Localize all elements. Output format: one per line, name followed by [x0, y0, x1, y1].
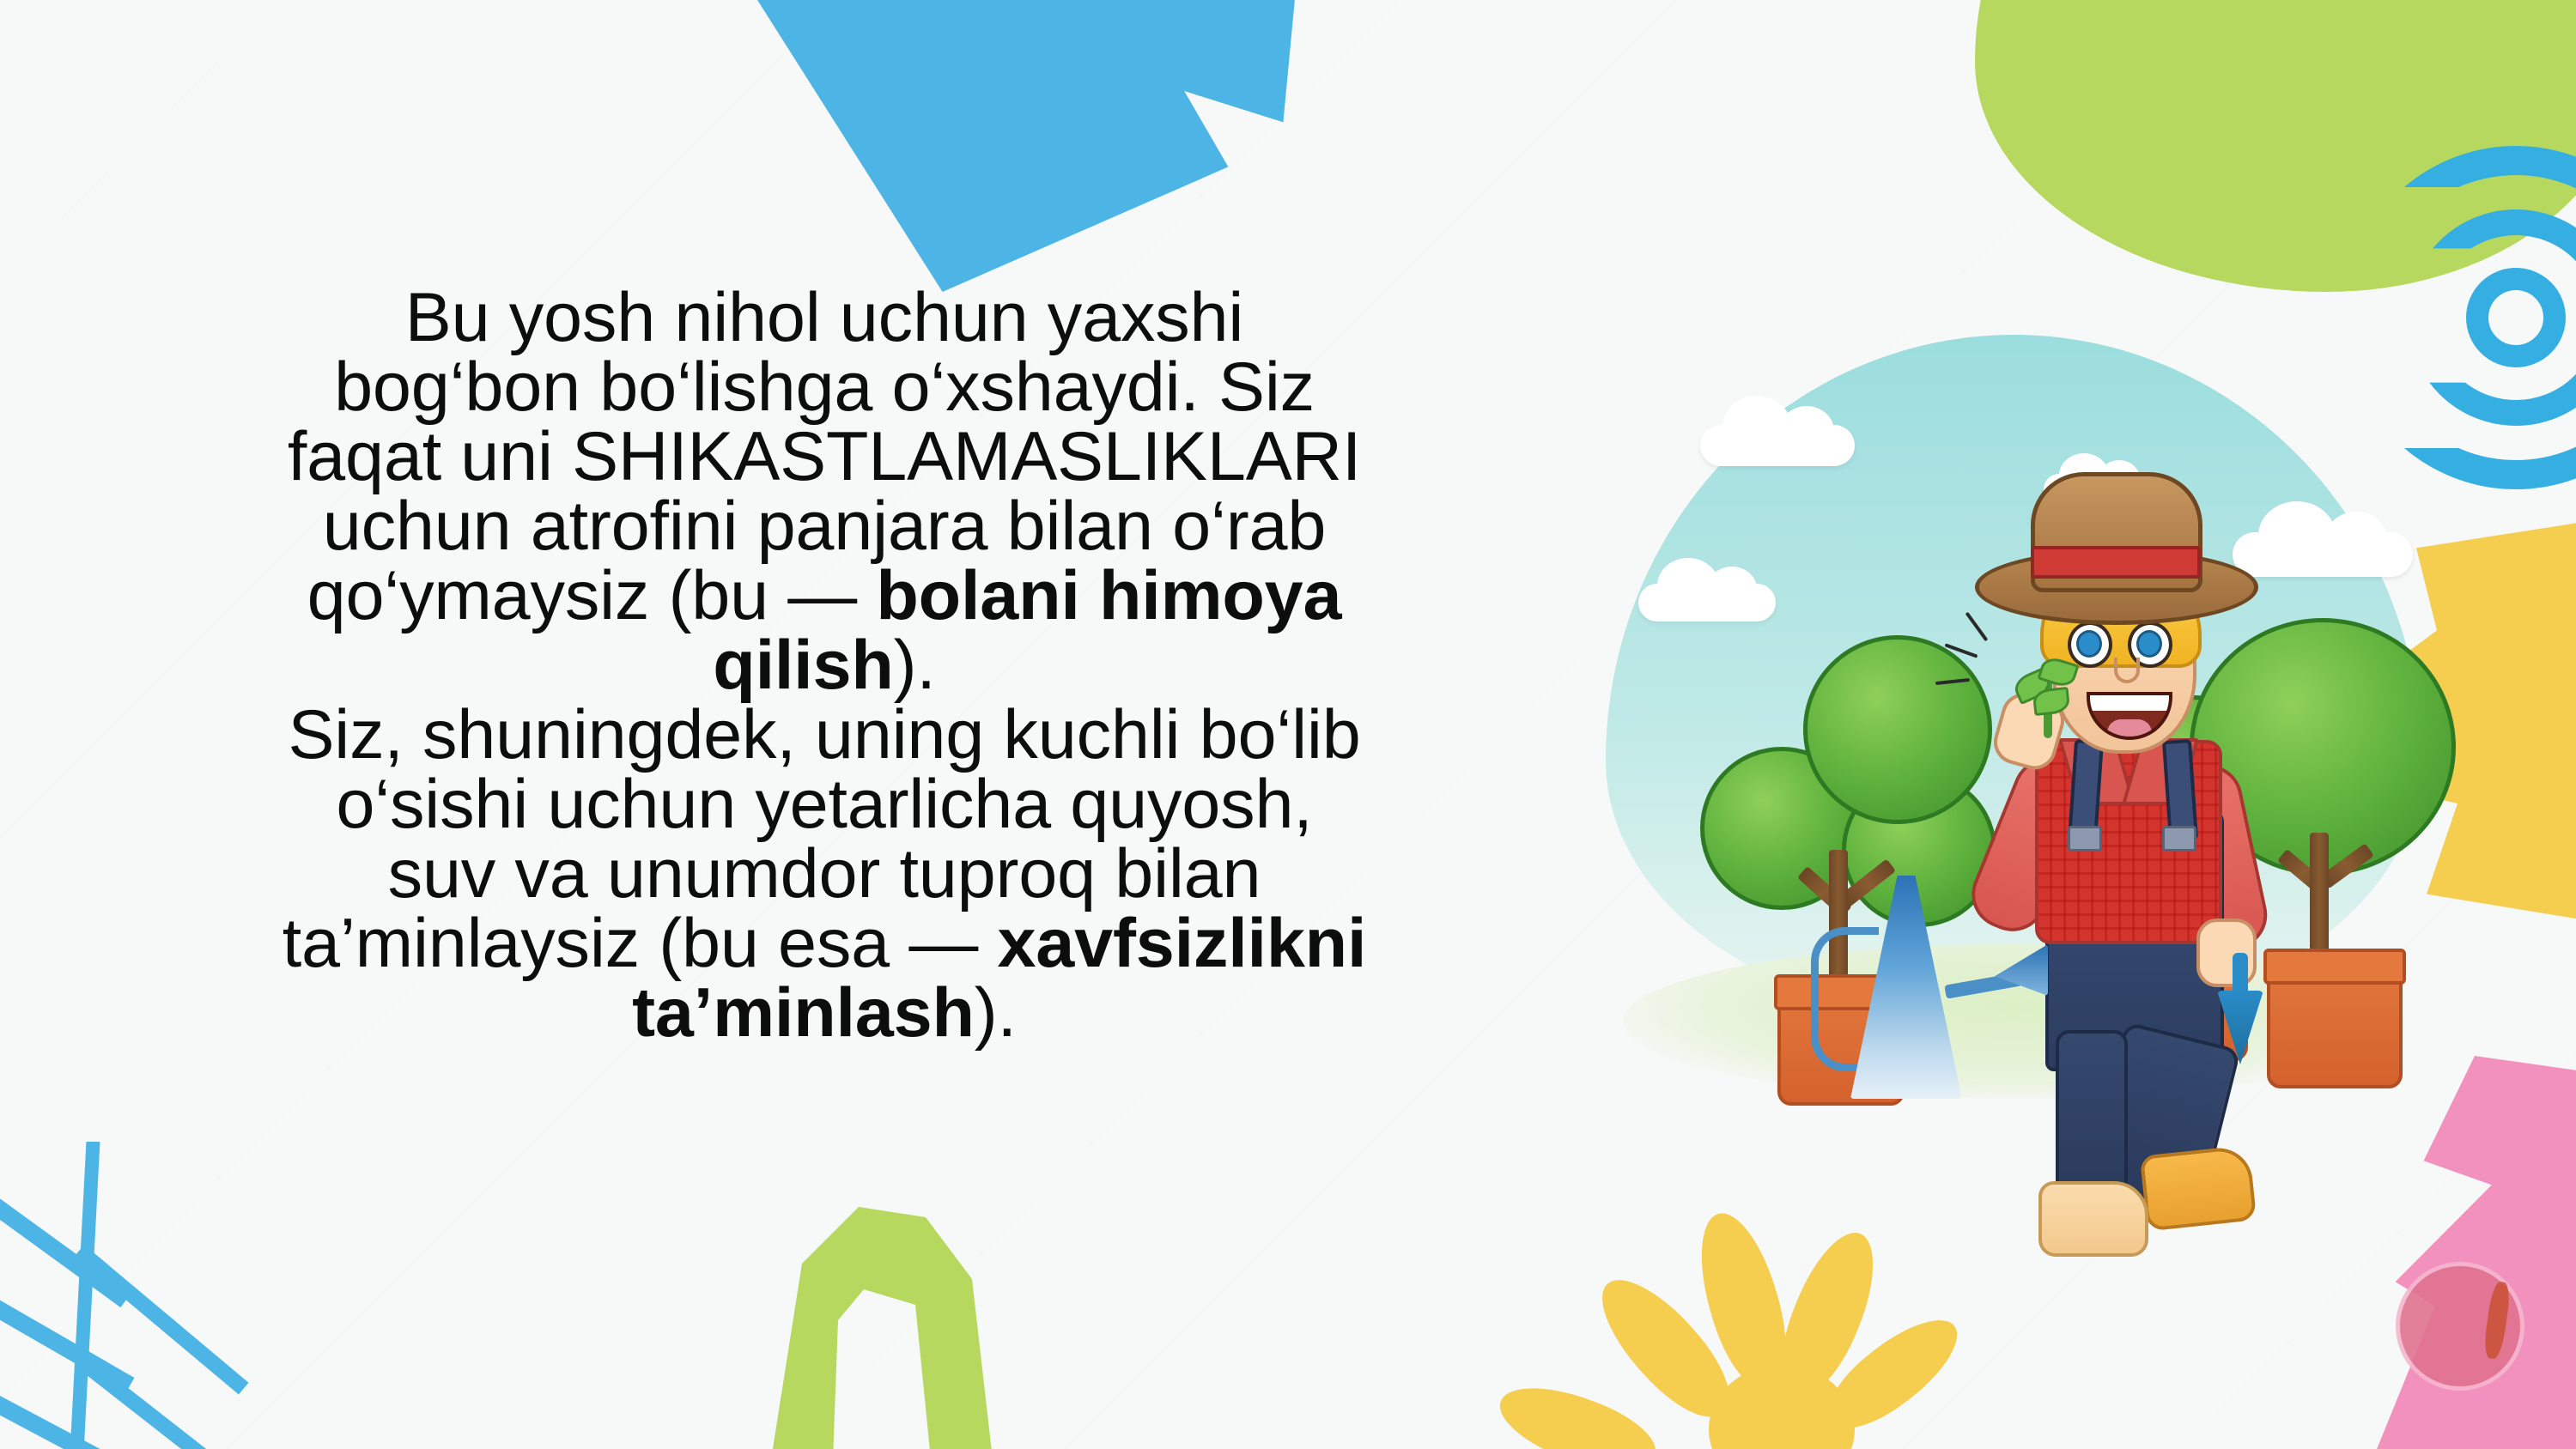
text-line: bog‘bon bo‘lishga o‘xshaydi. Siz	[52, 353, 1597, 422]
cloud-icon	[1700, 425, 1855, 466]
green-arch-decoration	[756, 1202, 1013, 1449]
text-line: Siz, shuningdek, uning kuchli bo‘lib	[52, 700, 1597, 770]
blue-polygon-decoration	[756, 0, 1305, 292]
text-run-plain: ta’minlaysiz (bu esa —	[283, 905, 998, 982]
boot-icon	[2140, 1145, 2257, 1232]
text-line: ta’minlaysiz (bu esa — xavfsizlikni	[52, 909, 1597, 979]
boot-icon	[2038, 1181, 2148, 1257]
pink-circle-decoration	[2396, 1262, 2524, 1391]
text-line: suv va unumdor tuproq bilan	[52, 840, 1597, 909]
text-run-plain: qo‘ymaysiz (bu —	[307, 557, 877, 634]
green-blob-decoration	[1975, 0, 2576, 292]
text-line: ta’minlash).	[52, 979, 1597, 1048]
text-line: o‘sishi uchun yetarlicha quyosh,	[52, 770, 1597, 840]
boy-gardener-illustration	[1597, 335, 2439, 1133]
blue-triangle-sketch-decoration	[0, 1142, 266, 1449]
text-line: qo‘ymaysiz (bu — bolani himoya	[52, 561, 1597, 631]
text-run-bold: bolani himoya	[876, 557, 1341, 634]
text-run-plain: ).	[975, 974, 1017, 1052]
slide-canvas: Bu yosh nihol uchun yaxshi bog‘bon bo‘li…	[0, 0, 2576, 1449]
seedling-icon	[2018, 644, 2078, 738]
paragraph-one: Bu yosh nihol uchun yaxshi bog‘bon bo‘li…	[52, 283, 1597, 700]
text-line: qilish).	[52, 631, 1597, 700]
slide-body-text: Bu yosh nihol uchun yaxshi bog‘bon bo‘li…	[52, 283, 1597, 1048]
yellow-flower-decoration	[1580, 1202, 1949, 1449]
text-run-bold: qilish	[713, 627, 893, 704]
text-line: uchun atrofini panjara bilan o‘rab	[52, 492, 1597, 561]
text-run-plain: ).	[894, 627, 936, 704]
trowel-icon	[2217, 953, 2263, 1064]
watering-can-icon	[1816, 850, 1996, 1099]
paragraph-two: Siz, shuningdek, uning kuchli bo‘lib o‘s…	[52, 700, 1597, 1048]
text-run-bold: xavfsizlikni	[997, 905, 1366, 982]
cloud-icon	[1638, 584, 1776, 621]
text-run-bold: ta’minlash	[632, 974, 975, 1052]
text-line: Bu yosh nihol uchun yaxshi	[52, 283, 1597, 353]
text-line: faqat uni SHIKASTLAMASLIKLARI	[52, 422, 1597, 492]
spiral-ring-inner	[2466, 268, 2566, 367]
boy-character	[1966, 438, 2327, 1116]
